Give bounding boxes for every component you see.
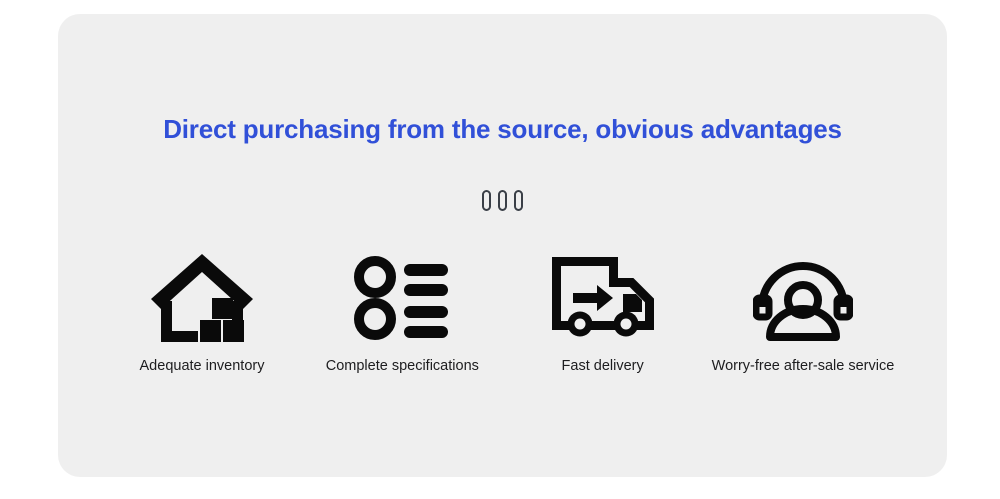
promo-card: Direct purchasing from the source, obvio… [58, 14, 947, 477]
feature-label: Complete specifications [326, 358, 479, 374]
feature-item-adequate-inventory: Adequate inventory [102, 250, 302, 374]
feature-item-complete-specifications: Complete specifications [302, 250, 502, 374]
feature-list: Adequate inventory [58, 250, 947, 374]
spec-list-icon [354, 250, 450, 346]
feature-item-after-sale-service: Worry-free after-sale service [703, 250, 903, 374]
delivery-truck-icon [551, 250, 655, 346]
feature-label: Worry-free after-sale service [712, 358, 895, 374]
headset-support-agent-icon [753, 250, 853, 346]
feature-label: Adequate inventory [140, 358, 265, 374]
triple-pill-divider [58, 190, 947, 211]
warehouse-house-boxes-icon [150, 250, 254, 346]
feature-item-fast-delivery: Fast delivery [503, 250, 703, 374]
feature-label: Fast delivery [562, 358, 644, 374]
divider-pill-1 [482, 190, 491, 211]
divider-pill-2 [498, 190, 507, 211]
divider-pill-3 [514, 190, 523, 211]
page-title: Direct purchasing from the source, obvio… [58, 114, 947, 145]
promo-banner: Direct purchasing from the source, obvio… [0, 0, 1000, 499]
